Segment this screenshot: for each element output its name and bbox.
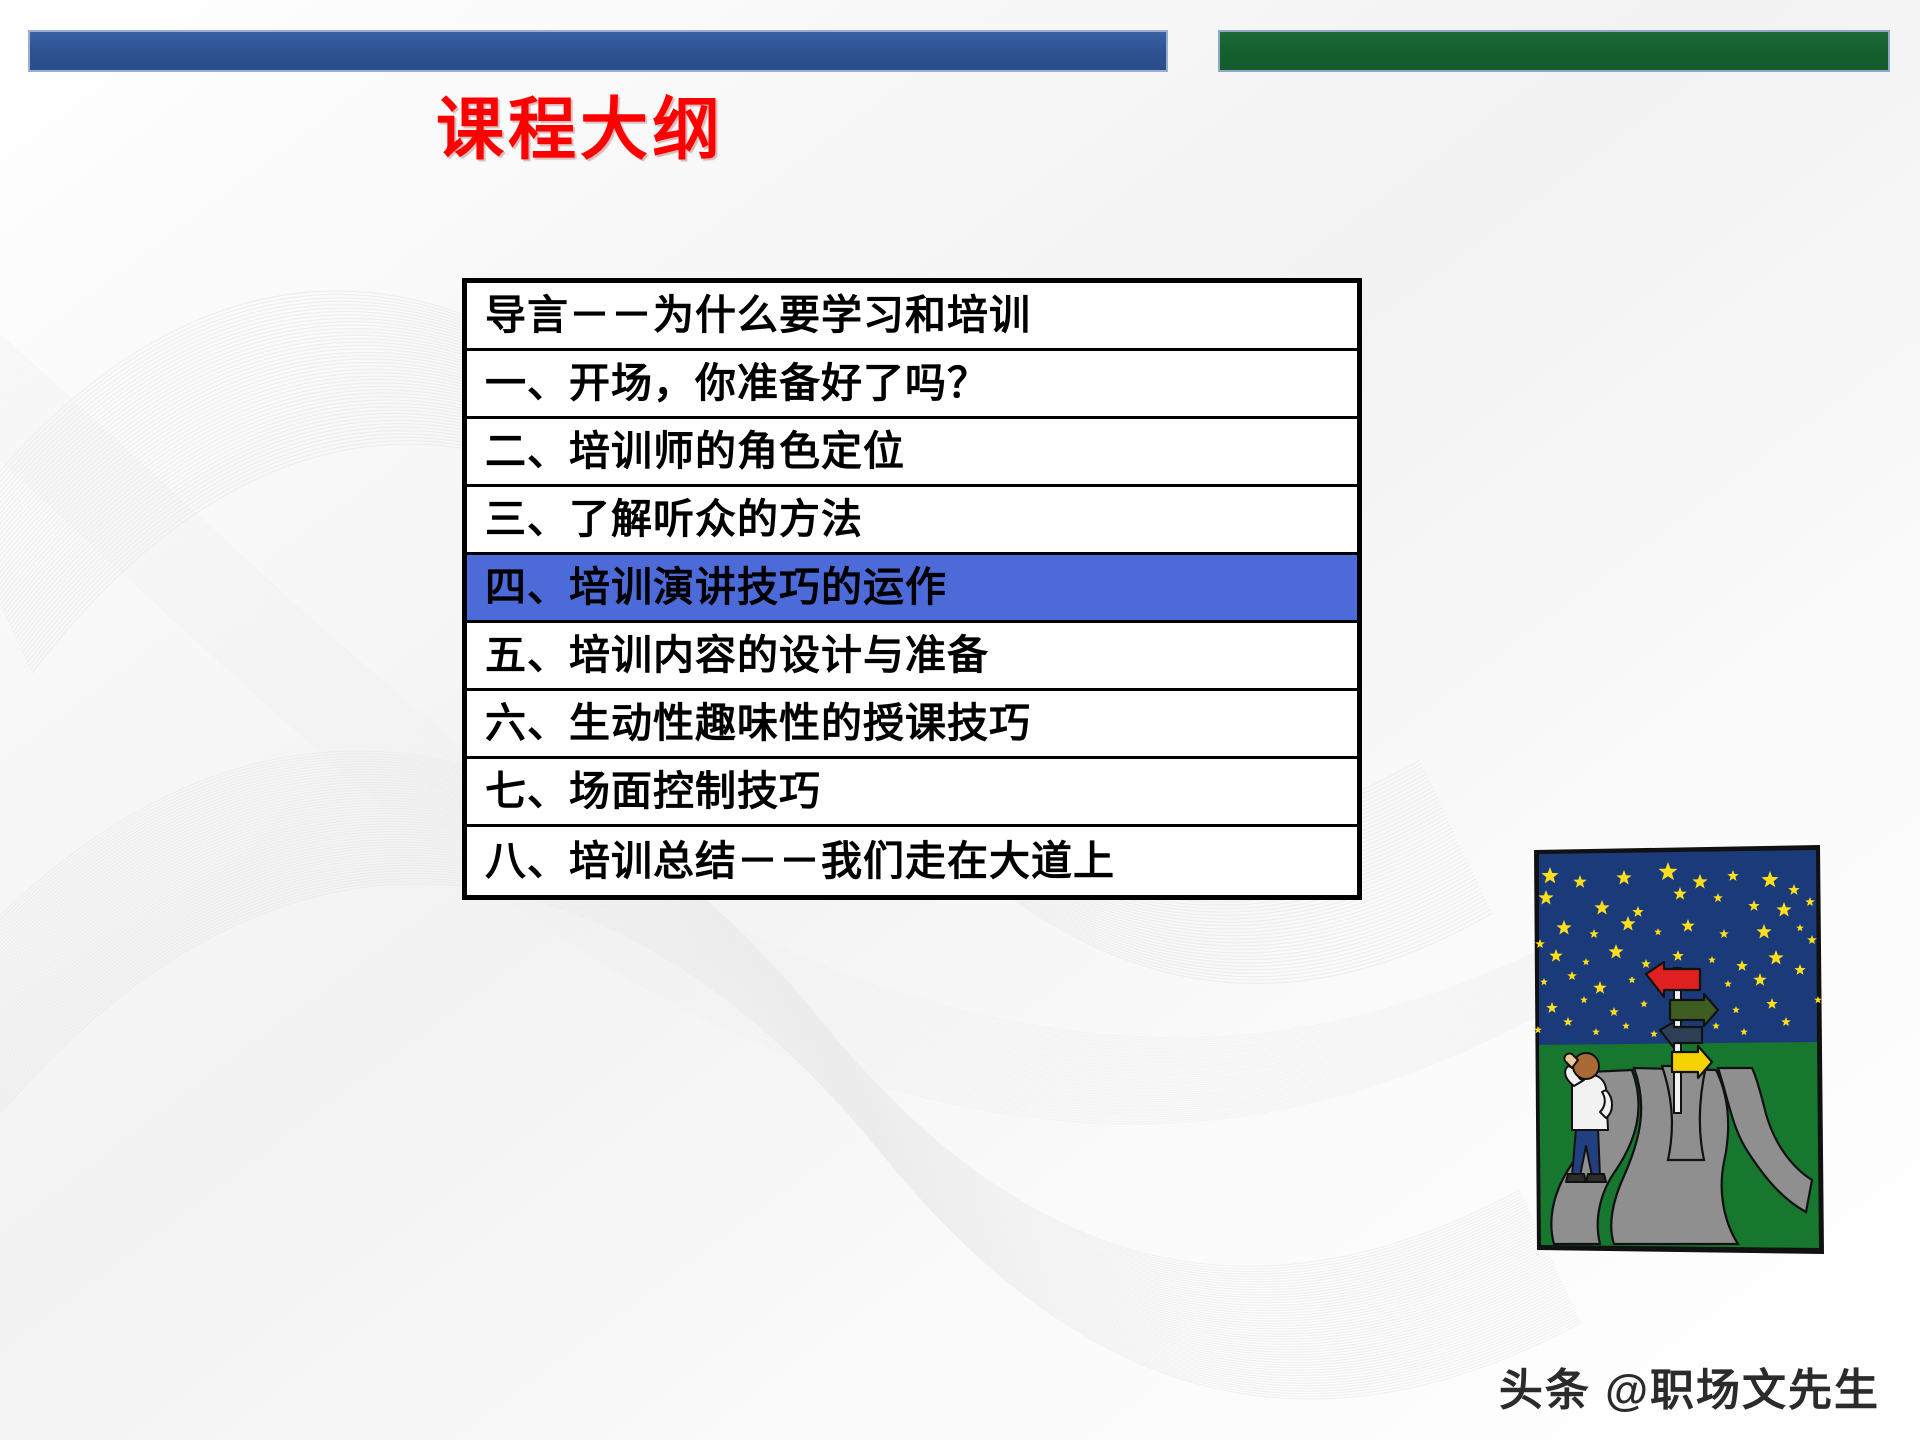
outline-row[interactable]: 七、场面控制技巧 [467, 759, 1357, 827]
outline-row-label: 四、培训演讲技巧的运作 [485, 567, 947, 608]
outline-row-label: 七、场面控制技巧 [485, 771, 821, 812]
outline-row[interactable]: 五、培训内容的设计与准备 [467, 623, 1357, 691]
header-accent-bar-green [1218, 30, 1890, 72]
slide-canvas: 课程大纲 导言－－为什么要学习和培训一、开场，你准备好了吗？二、培训师的角色定位… [0, 0, 1920, 1440]
outline-row-label: 三、了解听众的方法 [485, 499, 863, 540]
outline-row-label: 二、培训师的角色定位 [485, 431, 905, 472]
outline-row[interactable]: 八、培训总结－－我们走在大道上 [467, 827, 1357, 895]
crossroads-signpost-illustration [1528, 840, 1828, 1260]
outline-row[interactable]: 二、培训师的角色定位 [467, 419, 1357, 487]
page-title: 课程大纲 [0, 96, 1160, 164]
course-outline-table: 导言－－为什么要学习和培训一、开场，你准备好了吗？二、培训师的角色定位三、了解听… [462, 278, 1362, 900]
outline-row[interactable]: 四、培训演讲技巧的运作 [467, 555, 1357, 623]
outline-row[interactable]: 一、开场，你准备好了吗？ [467, 351, 1357, 419]
outline-row-label: 五、培训内容的设计与准备 [485, 635, 989, 676]
outline-row-label: 一、开场，你准备好了吗？ [485, 363, 989, 404]
outline-row-label: 八、培训总结－－我们走在大道上 [485, 841, 1115, 882]
outline-row-label: 六、生动性趣味性的授课技巧 [485, 703, 1031, 744]
outline-row-label: 导言－－为什么要学习和培训 [485, 295, 1031, 336]
outline-row[interactable]: 导言－－为什么要学习和培训 [467, 283, 1357, 351]
header-accent-bar-blue [28, 30, 1168, 72]
outline-row[interactable]: 六、生动性趣味性的授课技巧 [467, 691, 1357, 759]
watermark-text: 头条 @职场文先生 [1499, 1354, 1880, 1418]
outline-row[interactable]: 三、了解听众的方法 [467, 487, 1357, 555]
